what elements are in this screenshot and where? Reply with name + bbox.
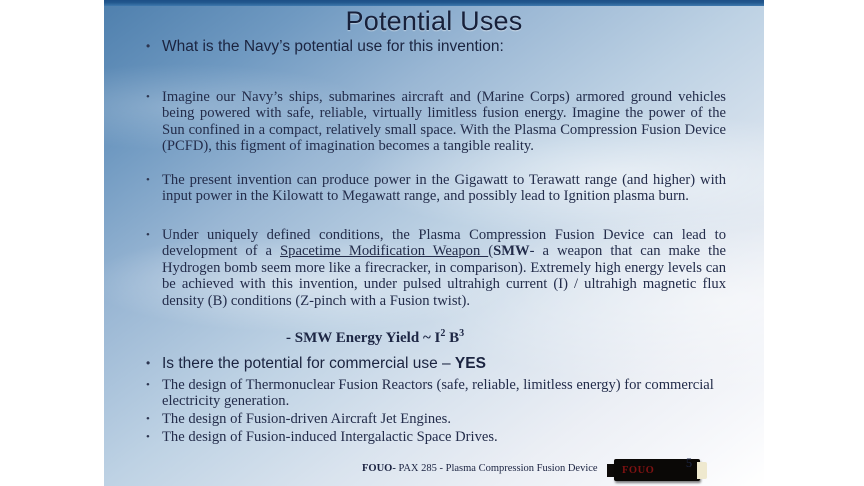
bullet-body-3: • Under uniquely defined conditions, the… [146,227,726,309]
bullet-point-icon: • [146,227,162,243]
bullet-body-1: • Imagine our Navy’s ships, submarines a… [146,89,726,155]
smw-energy-yield-formula: - SMW Energy Yield ~ I2 B3 [286,328,464,347]
bullet-body-4-text: The design of Thermonuclear Fusion React… [162,377,726,410]
page-number: 5 [669,456,709,471]
bullet-point-icon: • [146,411,162,427]
bullet-body-6-text: The design of Fusion-induced Intergalact… [162,429,726,445]
footer-fouo-label: FOUO- [362,463,396,474]
smw-abbreviation: SMW [493,243,529,259]
bullet-body-3-text: Under uniquely defined conditions, the P… [162,227,726,309]
bullet-commercial-question-text: Is there the potential for commercial us… [162,354,726,373]
bullet-body-5-text: The design of Fusion-driven Aircraft Jet… [162,411,726,427]
bullet-body-1-text: Imagine our Navy’s ships, submarines air… [162,89,726,155]
bullet-lead-question-text: What is the Navy’s potential use for thi… [162,37,726,56]
bullet-point-icon: • [146,429,162,445]
bullet-point-icon: • [146,172,162,188]
formula-exponent-2: 3 [459,328,464,339]
bullet-point-icon: • [146,37,162,56]
bullet-lead-question: • What is the Navy’s potential use for t… [146,37,726,56]
bullet-commercial-question: • Is there the potential for commercial … [146,354,726,373]
commercial-answer-yes: YES [455,355,486,372]
spacetime-modification-weapon-underlined: Spacetime Modification Weapon [280,243,488,259]
presentation-slide: Potential Uses • What is the Navy’s pote… [104,0,764,486]
page-title: Potential Uses [104,6,764,36]
slide-frame: Potential Uses • What is the Navy’s pote… [0,0,864,486]
bullet-body-5: • The design of Fusion-driven Aircraft J… [146,411,726,427]
bullet-point-icon: • [146,89,162,105]
footer-text: PAX 285 - Plasma Compression Fusion Devi… [396,463,598,474]
formula-middle: B [445,330,459,346]
bullet-point-icon: • [146,377,162,393]
commercial-question-segment: Is there the potential for commercial us… [162,355,455,372]
bullet-body-2: • The present invention can produce powe… [146,172,726,205]
redaction-box-text: FOUO [622,465,654,476]
bullet-body-2-text: The present invention can produce power … [162,172,726,205]
slide-footer: FOUO- PAX 285 - Plasma Compression Fusio… [362,462,598,475]
bullet-body-4: • The design of Thermonuclear Fusion Rea… [146,377,726,410]
bullet-body-6: • The design of Fusion-induced Intergala… [146,429,726,445]
bullet-point-icon: • [146,354,162,373]
formula-prefix: - SMW Energy Yield ~ I [286,330,440,346]
